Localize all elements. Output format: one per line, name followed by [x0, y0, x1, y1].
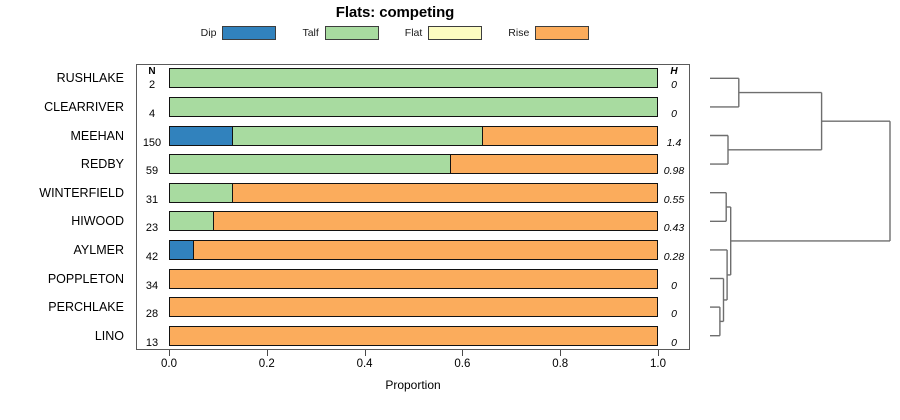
bar-segment-rise [193, 241, 657, 259]
h-value-clearriver: 0 [658, 108, 690, 120]
n-value-clearriver: 4 [136, 108, 168, 120]
legend-item-dip: Dip [201, 26, 277, 40]
h-value-winterfield: 0.55 [658, 194, 690, 206]
bar-row-winterfield [169, 183, 658, 203]
bar-segment-dip [170, 241, 193, 259]
bar-segment-rise [213, 212, 657, 230]
x-tick [169, 350, 170, 356]
chart-page: Flats: competing DipTalfFlatRise RUSHLAK… [0, 0, 900, 420]
bar-row-rushlake [169, 68, 658, 88]
bar-segment-rise [482, 127, 657, 145]
legend-label: Dip [201, 27, 217, 39]
x-tick-label: 0.0 [161, 358, 177, 370]
n-column: N2415059312342342813 [136, 64, 168, 350]
row-label-meehan: MEEHAN [71, 129, 124, 143]
bar-segment-talf [170, 155, 450, 173]
h-column: H001.40.980.550.430.28000 [658, 64, 690, 350]
x-tick-label: 0.2 [259, 358, 275, 370]
row-label-redby: REDBY [81, 157, 124, 171]
row-label-aylmer: AYLMER [74, 243, 124, 257]
bar-segment-rise [450, 155, 657, 173]
bar-row-meehan [169, 126, 658, 146]
bar-row-redby [169, 154, 658, 174]
legend-item-talf: Talf [302, 26, 378, 40]
x-tick [658, 350, 659, 356]
x-tick-label: 0.6 [454, 358, 470, 370]
n-value-aylmer: 42 [136, 251, 168, 263]
legend-item-rise: Rise [508, 26, 589, 40]
legend-label: Talf [302, 27, 318, 39]
row-label-perchlake: PERCHLAKE [48, 300, 124, 314]
bar-row-clearriver [169, 97, 658, 117]
bar-row-hiwood [169, 211, 658, 231]
x-tick-label: 1.0 [650, 358, 666, 370]
bar-segment-dip [170, 127, 232, 145]
legend-swatch-flat [428, 26, 482, 40]
x-tick-label: 0.4 [357, 358, 373, 370]
bar-segment-rise [170, 270, 657, 288]
n-value-hiwood: 23 [136, 222, 168, 234]
row-label-lino: LINO [95, 329, 124, 343]
bar-row-aylmer [169, 240, 658, 260]
n-value-meehan: 150 [136, 137, 168, 149]
legend-item-flat: Flat [405, 26, 483, 40]
x-tick-label: 0.8 [552, 358, 568, 370]
legend-swatch-dip [222, 26, 276, 40]
x-tick [267, 350, 268, 356]
bar-segment-talf [170, 69, 657, 87]
n-value-lino: 13 [136, 337, 168, 349]
h-value-meehan: 1.4 [658, 137, 690, 149]
h-value-aylmer: 0.28 [658, 251, 690, 263]
x-axis-title: Proportion [136, 378, 690, 392]
bar-segment-talf [170, 98, 657, 116]
n-value-winterfield: 31 [136, 194, 168, 206]
bar-row-perchlake [169, 297, 658, 317]
h-value-poppleton: 0 [658, 280, 690, 292]
h-value-perchlake: 0 [658, 308, 690, 320]
n-value-rushlake: 2 [136, 79, 168, 91]
h-value-rushlake: 0 [658, 79, 690, 91]
row-label-rushlake: RUSHLAKE [57, 71, 124, 85]
row-label-winterfield: WINTERFIELD [39, 186, 124, 200]
h-column-header: H [658, 66, 690, 77]
page-title: Flats: competing [0, 4, 790, 21]
bar-segment-talf [170, 212, 213, 230]
n-value-redby: 59 [136, 165, 168, 177]
dendrogram-svg [698, 64, 898, 350]
legend-label: Flat [405, 27, 423, 39]
x-tick [365, 350, 366, 356]
row-label-axis: RUSHLAKECLEARRIVERMEEHANREDBYWINTERFIELD… [0, 64, 130, 350]
x-tick [560, 350, 561, 356]
bar-segment-rise [232, 184, 657, 202]
bar-segment-talf [170, 184, 232, 202]
bar-row-lino [169, 326, 658, 346]
bar-segment-talf [232, 127, 481, 145]
legend: DipTalfFlatRise [0, 26, 790, 40]
x-tick [462, 350, 463, 356]
legend-label: Rise [508, 27, 529, 39]
n-value-poppleton: 34 [136, 280, 168, 292]
bar-row-poppleton [169, 269, 658, 289]
stacked-bars [169, 64, 658, 350]
row-label-hiwood: HIWOOD [71, 214, 124, 228]
legend-swatch-talf [325, 26, 379, 40]
n-value-perchlake: 28 [136, 308, 168, 320]
h-value-hiwood: 0.43 [658, 222, 690, 234]
n-column-header: N [136, 66, 168, 77]
bar-segment-rise [170, 327, 657, 345]
row-label-poppleton: POPPLETON [48, 272, 124, 286]
h-value-lino: 0 [658, 337, 690, 349]
h-value-redby: 0.98 [658, 165, 690, 177]
dendrogram [698, 64, 898, 350]
legend-swatch-rise [535, 26, 589, 40]
bar-segment-rise [170, 298, 657, 316]
row-label-clearriver: CLEARRIVER [44, 100, 124, 114]
